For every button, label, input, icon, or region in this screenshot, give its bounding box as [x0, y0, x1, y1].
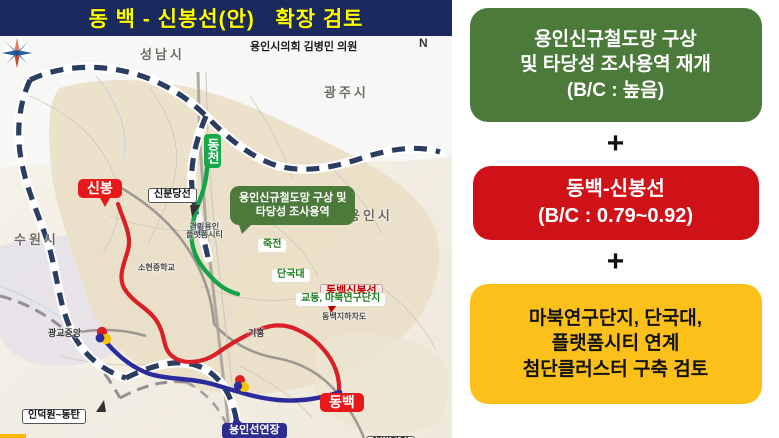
sinbong-label-tail [100, 198, 110, 207]
slide-root: 동 백 - 신봉선(안) 확장 검토 [0, 0, 779, 438]
gyodong-mabuk-label[interactable]: 교동, 마북연구단지 [296, 293, 385, 306]
plus-sign-1: + [607, 122, 625, 166]
callout-line1: 용인신규철도망 구상 및 [239, 191, 346, 205]
box-dongbaek-sinbong-line[interactable]: 동백-신봉선 (B/C : 0.79~0.92) [473, 166, 759, 240]
city-label-suwon: 수원시 [14, 233, 59, 247]
giheung-label: 기흥 [248, 329, 265, 338]
page-number-badge: 3 [0, 434, 26, 438]
indeogwon-dongtan-tail [96, 400, 106, 412]
map-graphics [0, 36, 452, 438]
summary-panel: 용인신규철도망 구상 및 타당성 조사용역 재개 (B/C : 높음) + 동백… [452, 0, 779, 438]
red-line-2: (B/C : 0.79~0.92) [538, 203, 693, 230]
green-line-3: (B/C : 높음) [567, 78, 664, 103]
sinbong-label[interactable]: 신봉 [78, 179, 122, 198]
dongbaek-underpass-label: 동백지하차도 [322, 313, 366, 321]
credit-text: 용인시의회 김병민 의원 [250, 38, 357, 54]
city-label-gwangju: 광주시 [324, 86, 369, 100]
dongbaek-label[interactable]: 동백 [320, 393, 364, 412]
callout-line2: 타당성 조사용역 [239, 205, 346, 219]
plus-sign-2: + [607, 240, 625, 284]
title-bar: 동 백 - 신봉선(안) 확장 검토 [0, 0, 452, 36]
indeogwon-dongtan-label[interactable]: 인덕원~동탄 [22, 409, 86, 424]
platform-city-label: 경기용인 플랫폼시티 [186, 223, 223, 240]
sohyeon-middle-school-label: 소현중학교 [138, 264, 175, 272]
jukjeon-label[interactable]: 죽전 [258, 239, 286, 252]
box-cluster-plan[interactable]: 마북연구단지, 단국대, 플랫폼시티 연계 첨단클러스터 구축 검토 [470, 284, 762, 404]
dankookdae-label[interactable]: 단국대 [272, 269, 310, 282]
yellow-line-1: 마북연구단지, 단국대, [529, 306, 702, 331]
platform-city-line2: 플랫폼시티 [186, 231, 223, 239]
red-line-1: 동백-신봉선 [566, 176, 665, 203]
map-panel[interactable]: 용인시의회 김병민 의원 N 성남시 광주시 용인시 수원시 경기용인 플랫폼시… [0, 36, 452, 438]
green-line-1: 용인신규철도망 구상 [534, 27, 697, 52]
railway-study-callout[interactable]: 용인신규철도망 구상 및 타당성 조사용역 [230, 186, 355, 225]
yonginseon-extension-tail [232, 416, 244, 425]
dongcheon-label[interactable]: 동천 [204, 134, 221, 168]
page-title: 동 백 - 신봉선(안) 확장 검토 [88, 3, 363, 33]
gwanggyo-jungang-label: 광교중앙 [48, 329, 81, 338]
city-label-seongnam: 성남시 [140, 48, 185, 62]
green-line-2: 및 타당성 조사용역 재개 [520, 52, 711, 77]
sinbundangseon-tail [190, 205, 200, 217]
sinbundangseon-label[interactable]: 신분당선 [148, 188, 197, 203]
yellow-line-2: 플랫폼시티 연계 [552, 331, 680, 356]
north-letter: N [419, 36, 428, 50]
box-new-railway-study[interactable]: 용인신규철도망 구상 및 타당성 조사용역 재개 (B/C : 높음) [470, 8, 762, 122]
compass-rose-icon [0, 36, 34, 70]
yellow-line-3: 첨단클러스터 구축 검토 [523, 357, 708, 382]
yonginseon-extension-label[interactable]: 용인선연장 [222, 423, 287, 438]
railway-study-callout-tail [238, 222, 254, 234]
